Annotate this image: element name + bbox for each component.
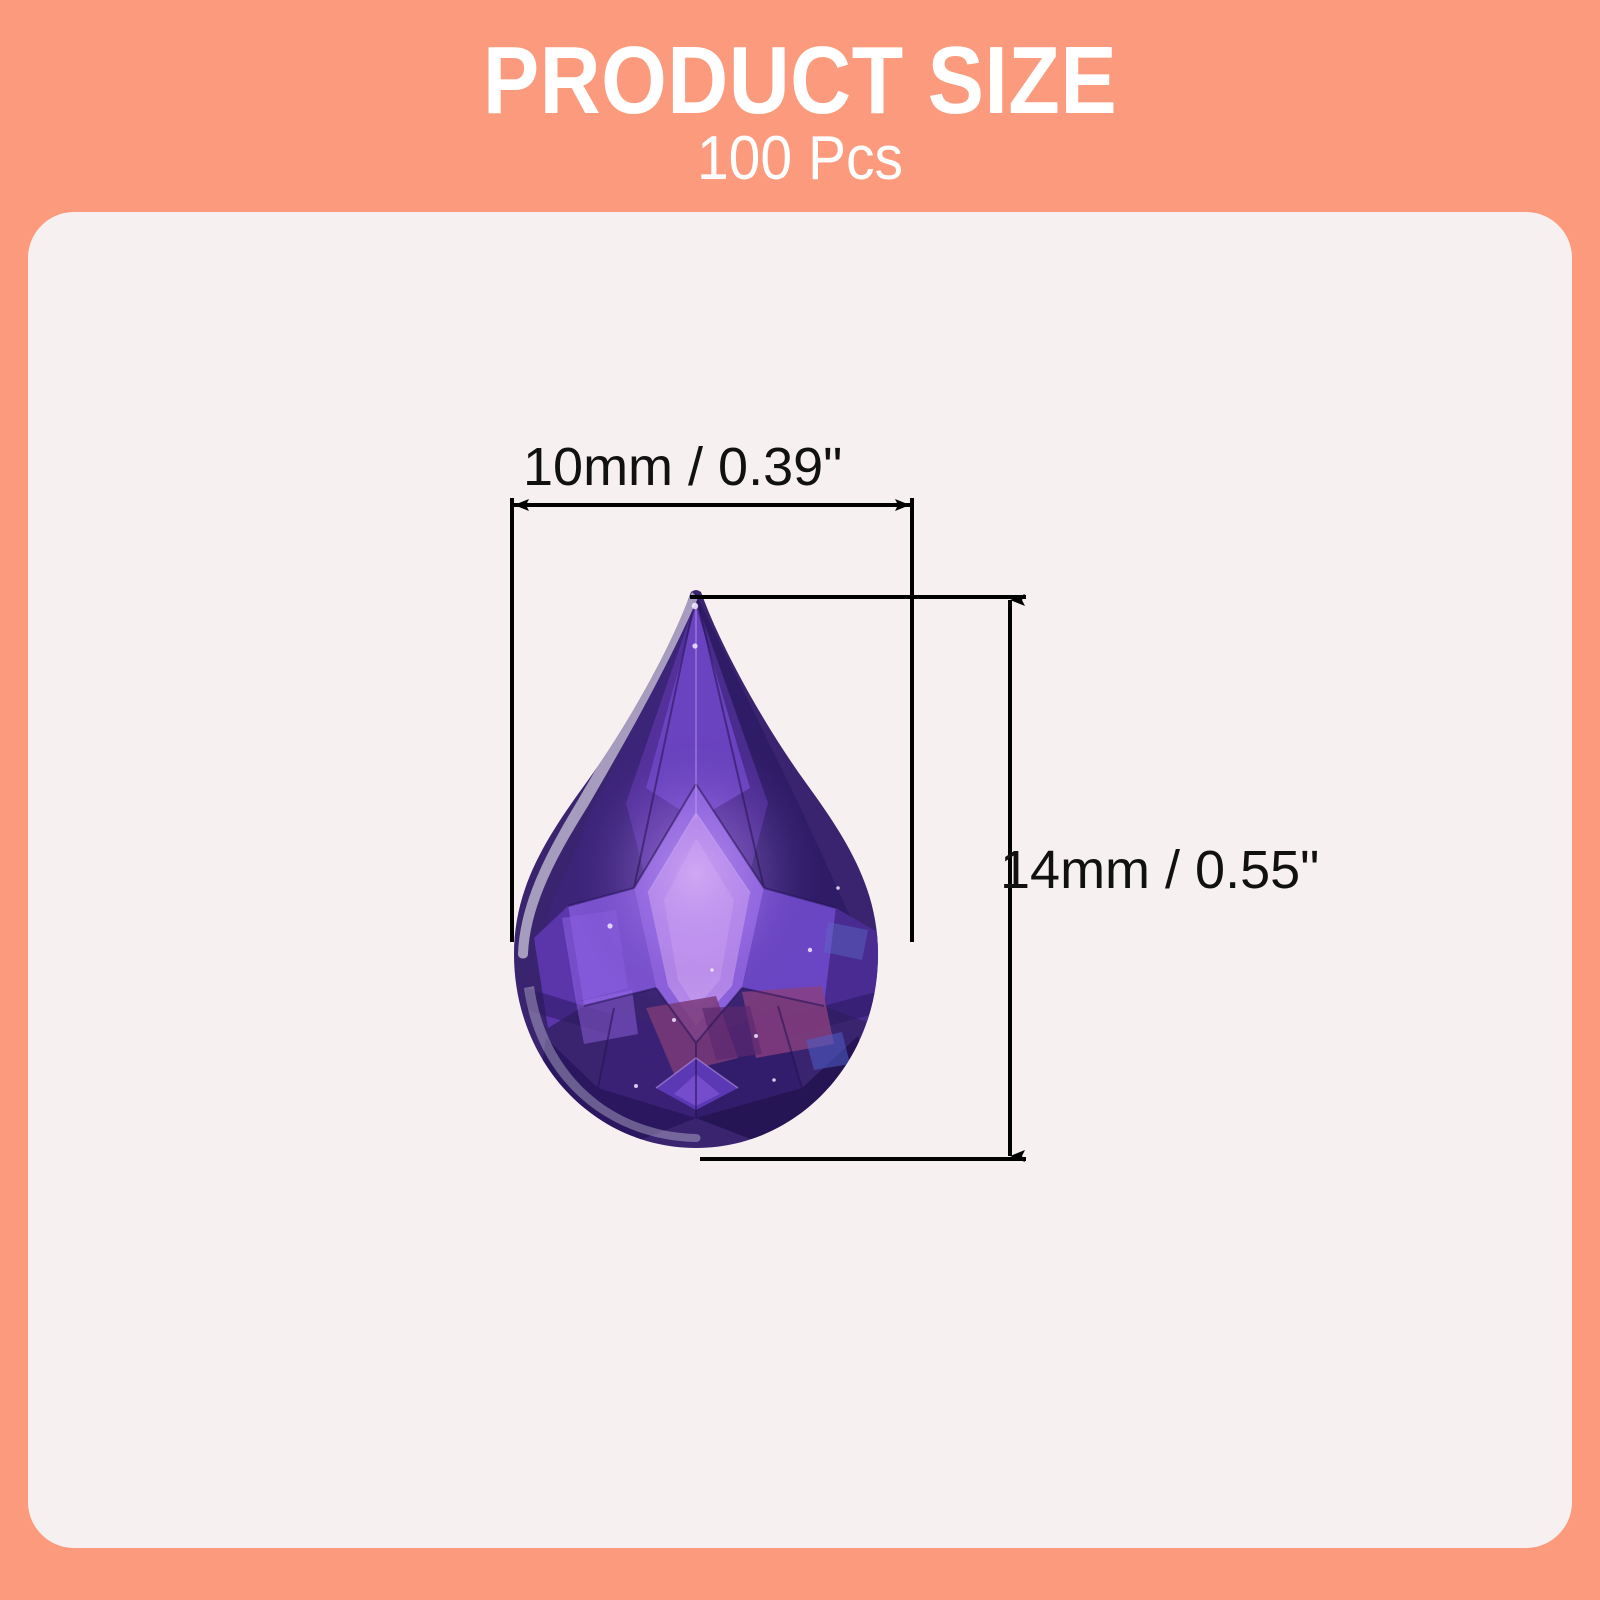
height-dimension-label: 14mm / 0.55": [1000, 843, 1319, 897]
header-band: PRODUCT SIZE 100 Pcs: [0, 0, 1600, 212]
gemstone-illustration: [506, 588, 916, 1156]
width-dimension-label: 10mm / 0.39": [523, 440, 842, 494]
page-title: PRODUCT SIZE: [96, 33, 1504, 129]
gem-facets: [506, 588, 916, 1156]
product-image-gemstone: [506, 588, 916, 1156]
product-size-infographic: PRODUCT SIZE 100 Pcs: [0, 0, 1600, 1600]
quantity-subtitle: 100 Pcs: [64, 128, 1536, 190]
